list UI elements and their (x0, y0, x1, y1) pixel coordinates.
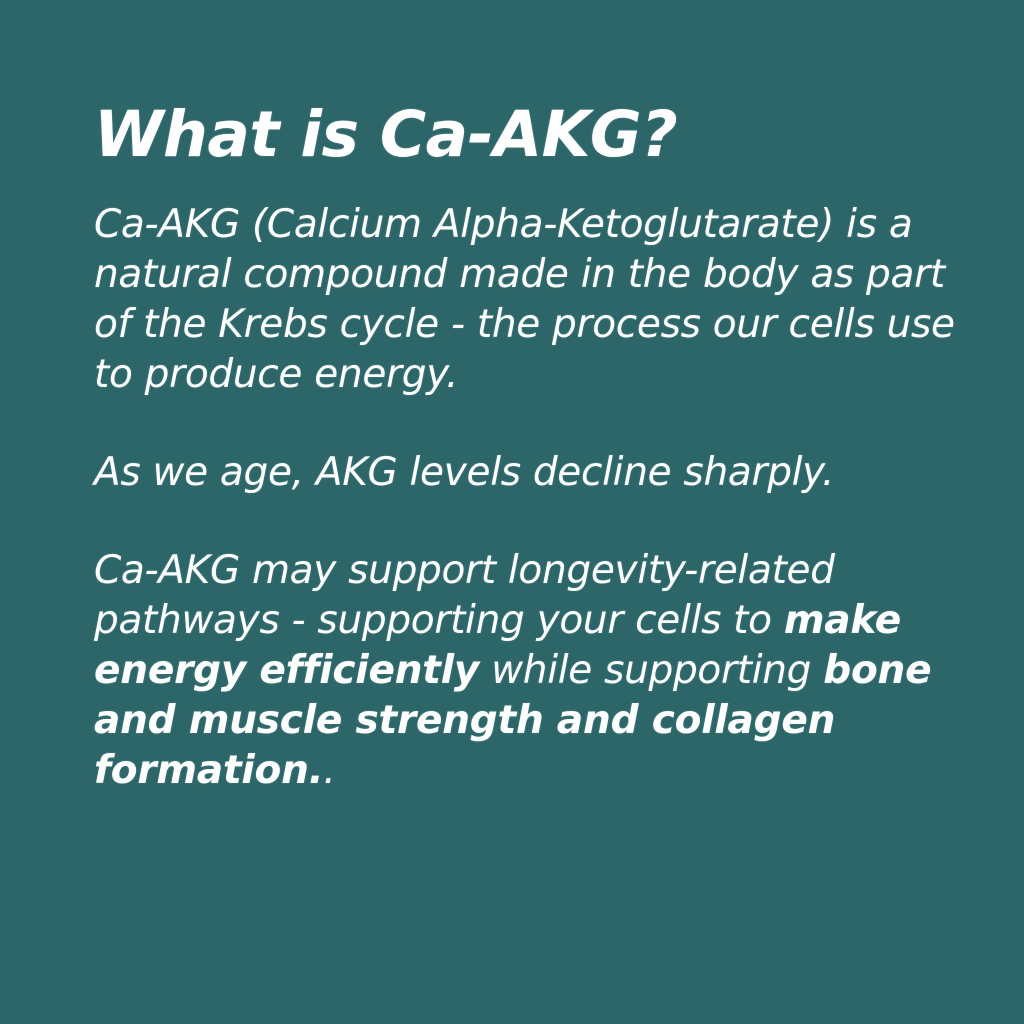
paragraph-definition: Ca-AKG (Calcium Alpha-Ketoglutarate) is … (94, 200, 956, 400)
benefits-middle-text: while supporting (479, 648, 823, 693)
ca-akg-info-card: What is Ca-AKG? Ca-AKG (Calcium Alpha-Ke… (0, 0, 1024, 1024)
benefits-trailing-period: . (323, 748, 335, 793)
paragraph-age-decline: As we age, AKG levels decline sharply. (94, 448, 956, 498)
page-title: What is Ca-AKG? (94, 96, 960, 174)
benefits-lead-text: Ca-AKG may support longevity-related pat… (94, 548, 835, 643)
card-content: What is Ca-AKG? Ca-AKG (Calcium Alpha-Ke… (94, 96, 960, 796)
paragraph-benefits: Ca-AKG may support longevity-related pat… (94, 546, 956, 796)
